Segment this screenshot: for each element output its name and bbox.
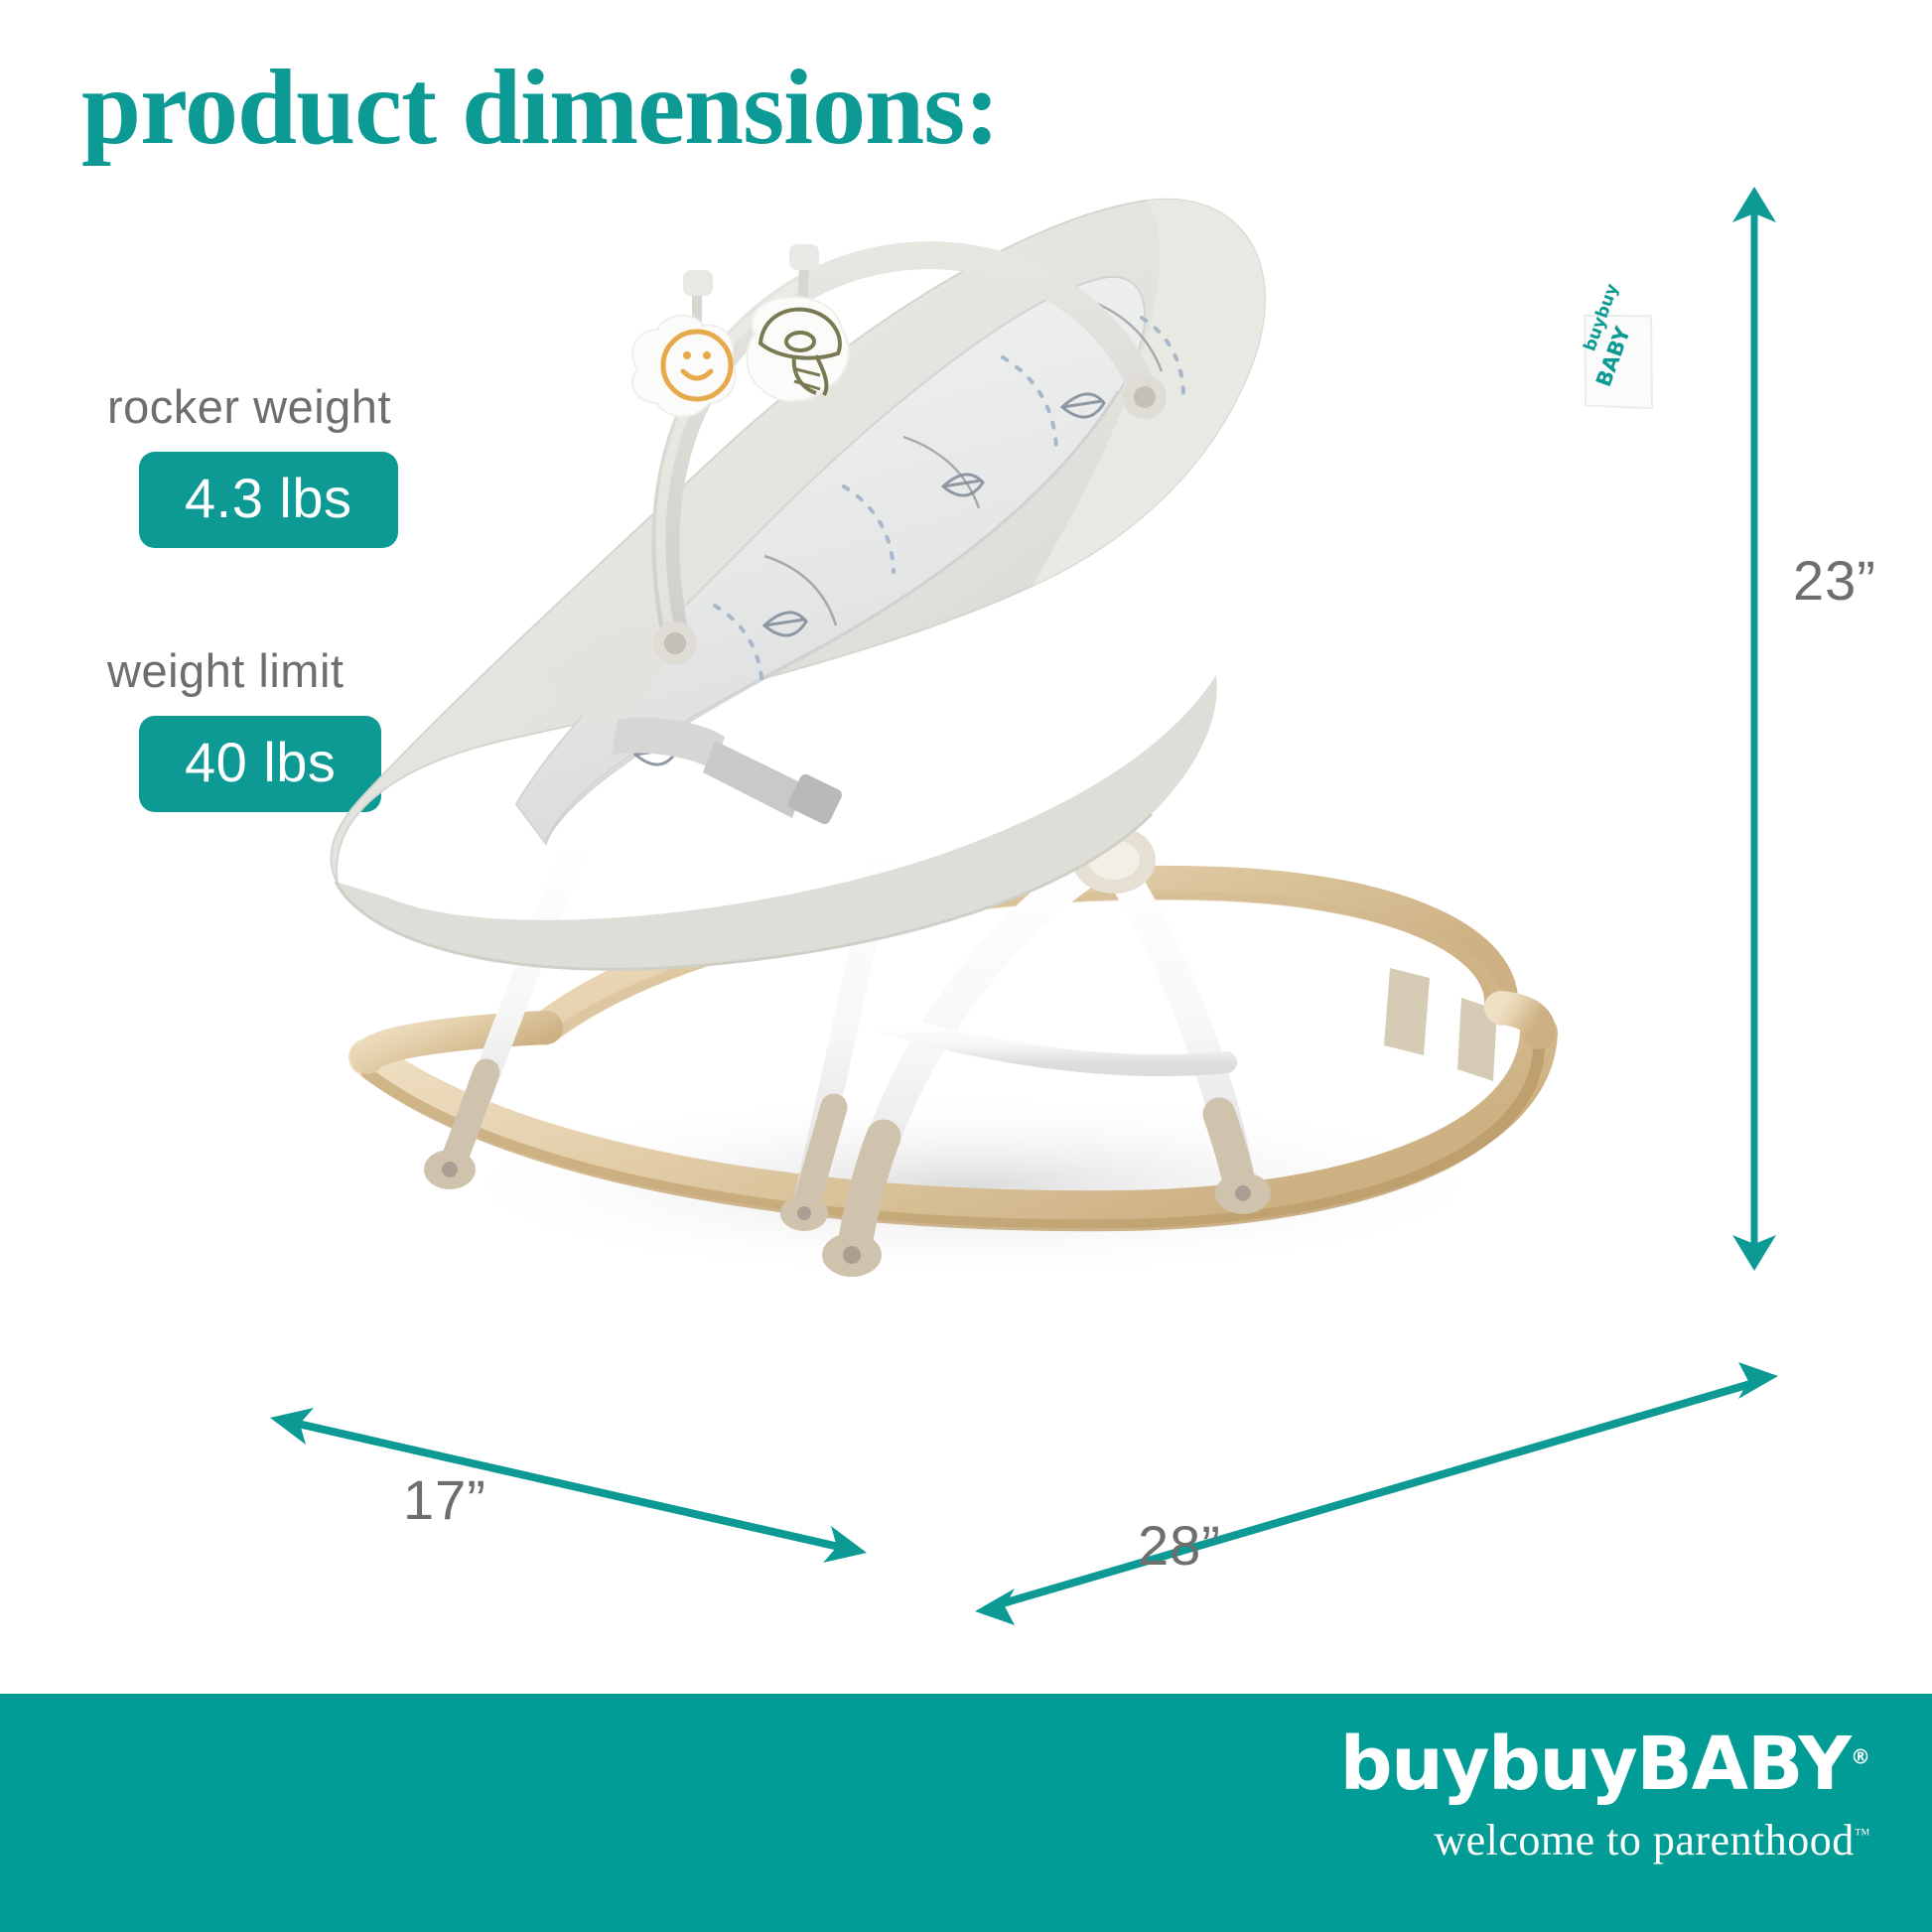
brand-baby-text: BABY (1636, 1722, 1851, 1807)
page-title: product dimensions: (81, 52, 999, 164)
tagline-text: welcome to parenthood (1434, 1816, 1854, 1864)
dimension-arrow-depth (270, 1408, 867, 1563)
product-image: buybuy BABY (248, 159, 1668, 1370)
registered-mark: ® (1851, 1744, 1870, 1768)
footer-bar: buybuyBABY® welcome to parenthood™ (0, 1694, 1932, 1932)
dimension-arrow-width (975, 1362, 1778, 1625)
brand-buy-text: buybuy (1340, 1722, 1637, 1807)
dimension-label-width: 28” (1138, 1513, 1221, 1578)
brand-tagline: welcome to parenthood™ (1340, 1815, 1870, 1865)
dimension-label-height: 23” (1793, 548, 1876, 613)
footer-logo-block: buybuyBABY® welcome to parenthood™ (1340, 1727, 1870, 1865)
brand-logo: buybuyBABY® (1340, 1727, 1870, 1801)
dimension-arrow-height (1732, 187, 1776, 1271)
infographic-canvas: product dimensions: rocker weight 4.3 lb… (0, 0, 1932, 1932)
trademark-mark: ™ (1855, 1826, 1870, 1843)
dimension-label-depth: 17” (403, 1467, 486, 1532)
